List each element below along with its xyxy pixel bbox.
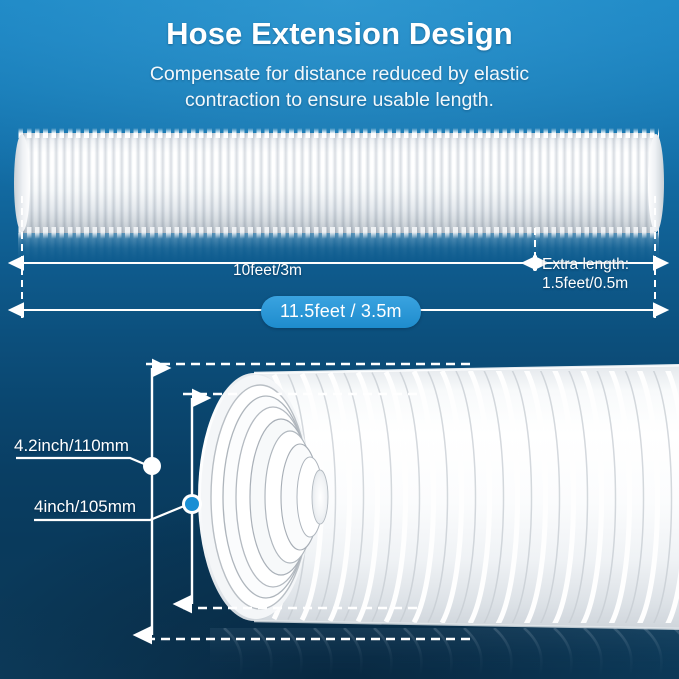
inner-diameter-label: 4inch/105mm [34, 497, 136, 518]
upper-hose-left-end-cap [14, 134, 30, 232]
outer-diameter-label: 4.2inch/110mm [14, 436, 129, 457]
lower-hose-illustration [196, 363, 679, 631]
outer-diameter-marker-dot [143, 457, 161, 475]
upper-hose-right-end-cap [648, 134, 664, 232]
outer-diameter-leader-line [16, 458, 149, 466]
page-title: Hose Extension Design [0, 0, 679, 51]
lower-hose-reflection [210, 628, 679, 676]
total-length-badge: 11.5feet / 3.5m [261, 296, 421, 328]
upper-hose-body [18, 133, 659, 233]
page-subtitle-line-2: contraction to ensure usable length. [0, 88, 679, 114]
page-subtitle: Compensate for distance reduced by elast… [0, 51, 679, 114]
upper-hose-illustration [18, 133, 659, 233]
page-subtitle-line-1: Compensate for distance reduced by elast… [0, 62, 679, 88]
header: Hose Extension Design Compensate for dis… [0, 0, 679, 114]
extra-length-label: Extra length: 1.5feet/0.5m [542, 256, 662, 294]
infographic-canvas: Hose Extension Design Compensate for dis… [0, 0, 679, 679]
upper-hose-bottom-ribs [18, 227, 659, 239]
base-length-label: 10feet/3m [0, 262, 535, 281]
upper-hose-top-ribs [18, 128, 659, 138]
